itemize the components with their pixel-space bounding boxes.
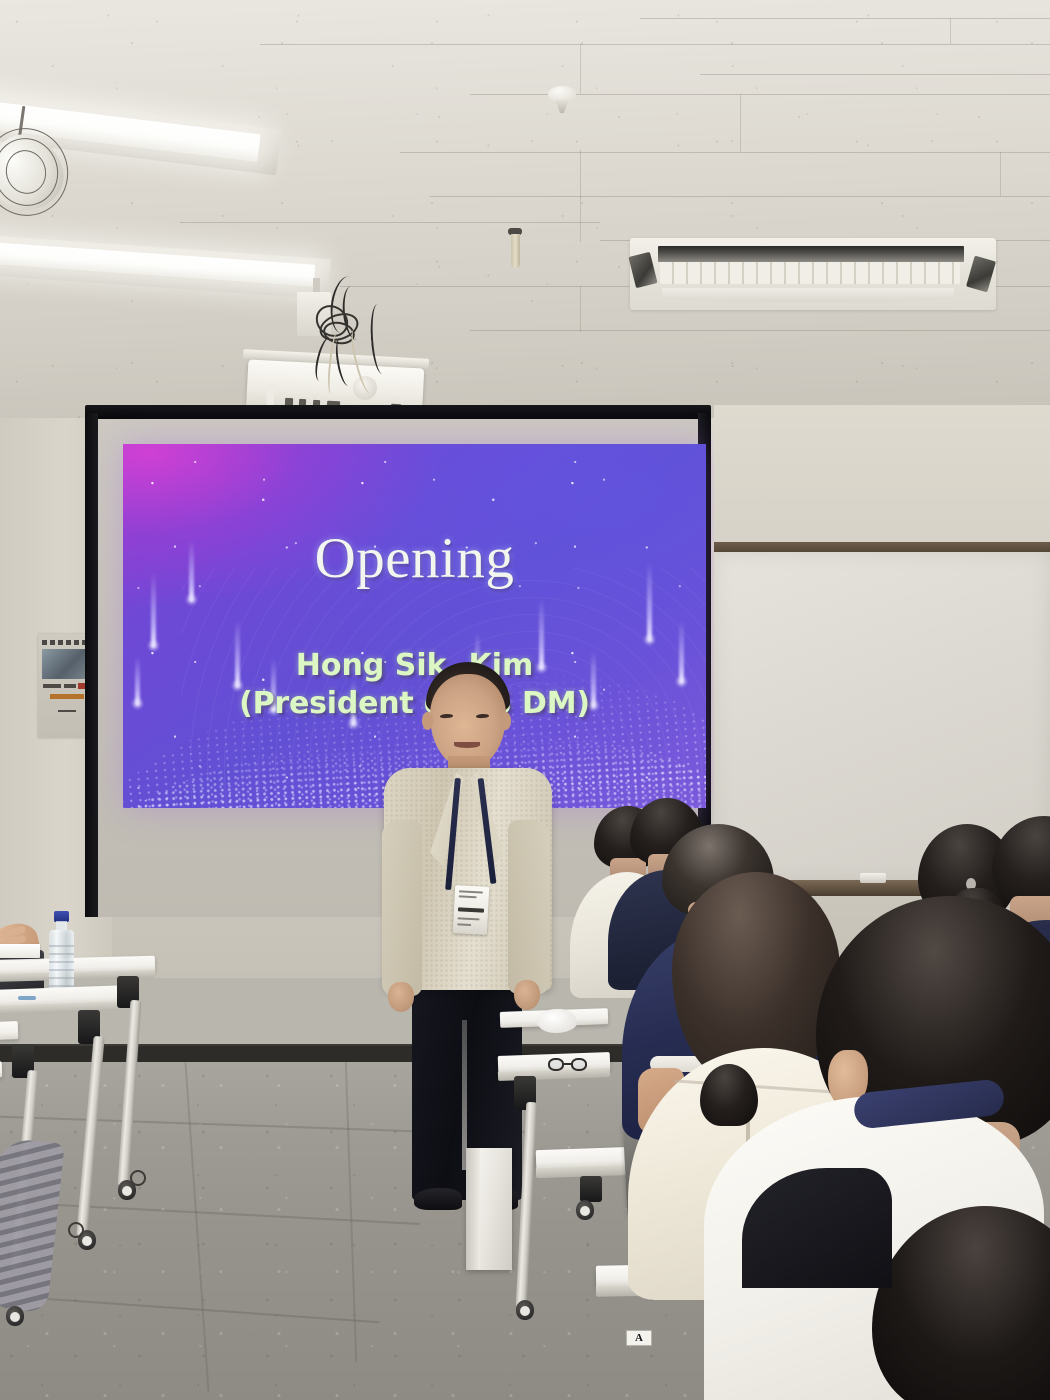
table-left-lowest	[0, 1021, 18, 1041]
caster-ring-left-b	[68, 1222, 84, 1238]
desk-label-a: A	[626, 1330, 652, 1346]
audience-member-bottom-right	[872, 1206, 1050, 1400]
table-center-bracket-b	[580, 1176, 602, 1202]
ceiling-texture	[0, 0, 1050, 432]
presenter-hand-left	[388, 982, 414, 1012]
eyeglasses	[548, 1058, 590, 1072]
presenter-mouth	[454, 742, 480, 748]
screen-edge-left	[85, 413, 98, 917]
audience-member-back-small	[700, 1064, 760, 1134]
presenter-shoe-left	[414, 1188, 462, 1210]
caster-ring-left-a	[130, 1170, 146, 1186]
slide-title: Opening	[123, 530, 706, 587]
paper-stack-left	[0, 944, 40, 958]
caster-left-d	[6, 1306, 24, 1326]
caster-center-b	[576, 1200, 594, 1220]
fan-icon	[0, 120, 78, 238]
presenter-ear-right	[500, 712, 511, 730]
pen-on-table-left	[18, 996, 36, 1000]
presenter-arm-right	[508, 820, 550, 994]
wall-above-whiteboard	[714, 405, 1050, 545]
smoke-detector-icon	[548, 86, 576, 116]
ceiling	[0, 0, 1050, 432]
ac-cassette-icon	[612, 238, 1012, 310]
screen-roller-bar	[85, 405, 711, 419]
presenter-hand-right	[514, 980, 540, 1010]
presenter-head	[430, 674, 506, 766]
audience-member-dark-shoulder	[742, 1168, 892, 1288]
shopping-bag	[466, 1148, 512, 1270]
lecture-room-photo: Opening Hong Sik, Kim (President of KS D…	[0, 0, 1050, 1400]
tissue	[537, 1009, 577, 1033]
presenter-arm-left	[382, 820, 422, 996]
presenter-ear-left	[422, 712, 433, 730]
presenter-name-badge	[453, 885, 489, 935]
caster-center-a	[516, 1300, 534, 1320]
sprinkler-icon	[508, 228, 522, 270]
